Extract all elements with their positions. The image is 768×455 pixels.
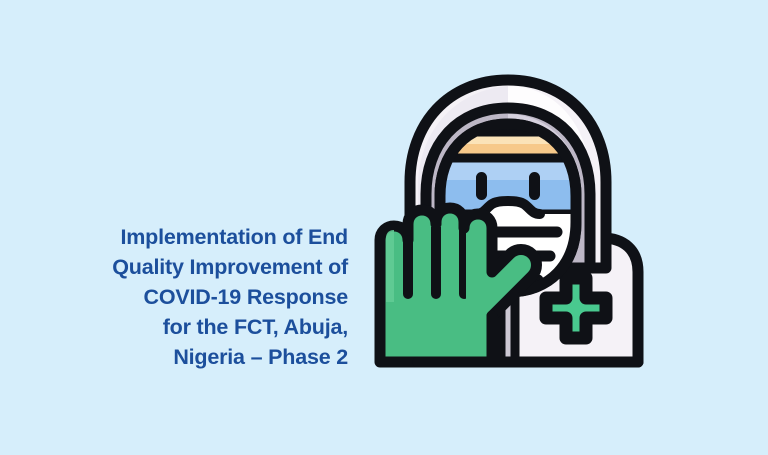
page-title: Implementation of End Quality Improvemen… (30, 222, 348, 372)
healthcare-worker-svg (358, 72, 658, 377)
eye-left (476, 172, 487, 200)
headline-line-2: Quality Improvement of (30, 252, 348, 282)
eye-right (529, 172, 540, 200)
covid-project-banner: Implementation of End Quality Improvemen… (0, 0, 768, 455)
healthcare-worker-ppe-illustration (358, 72, 658, 377)
headline-line-1: Implementation of End (30, 222, 348, 252)
headline-line-5: Nigeria – Phase 2 (30, 342, 348, 372)
headline-line-4: for the FCT, Abuja, (30, 312, 348, 342)
headline-line-3: COVID-19 Response (30, 282, 348, 312)
glove-highlight (386, 230, 394, 302)
